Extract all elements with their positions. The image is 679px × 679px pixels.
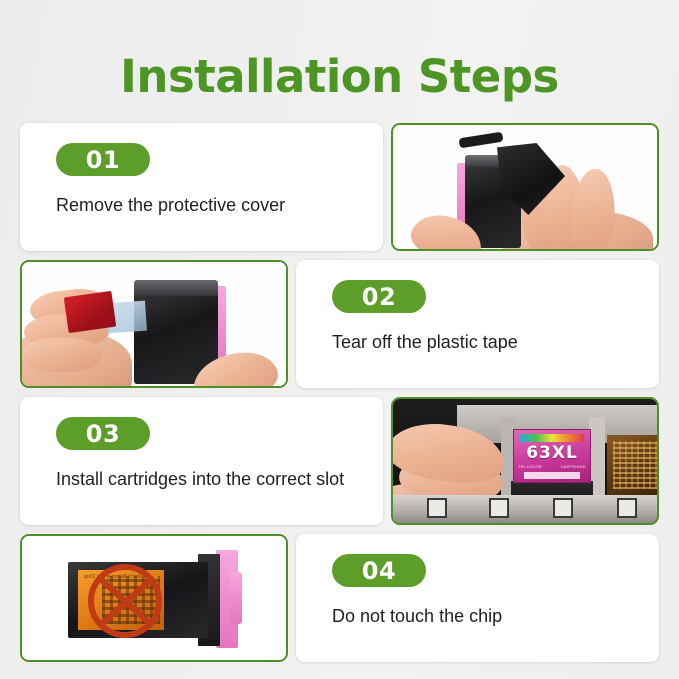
step-description-04: Do not touch the chip bbox=[332, 605, 632, 629]
cartridge-pink-tab bbox=[230, 572, 242, 624]
cartridge-sublabel-right: CARTRIDGE bbox=[561, 464, 586, 469]
finger bbox=[22, 338, 102, 372]
step-row-03: 03 Install cartridges into the correct s… bbox=[20, 397, 659, 525]
step-text-card-02: 02 Tear off the plastic tape bbox=[296, 260, 659, 388]
tri-color-stripe bbox=[520, 434, 584, 442]
step-text-card-04: 04 Do not touch the chip bbox=[296, 534, 659, 662]
step-badge-02: 02 bbox=[332, 280, 426, 313]
cartridge-sublabel: TRI-COLOR CARTRIDGE bbox=[518, 464, 586, 469]
cartridge-top bbox=[134, 280, 218, 296]
no-entry-icon bbox=[88, 564, 162, 638]
page-title: Installation Steps bbox=[0, 0, 679, 99]
photo-do-not-touch-chip: Don't Remove the Chip bbox=[20, 534, 288, 662]
photo-tear-plastic-tape bbox=[20, 260, 288, 388]
step-description-02: Tear off the plastic tape bbox=[332, 331, 632, 355]
printer-tray bbox=[393, 495, 657, 523]
step-badge-03: 03 bbox=[56, 417, 150, 450]
cartridge-label-footer bbox=[524, 472, 580, 479]
step-text-card-03: 03 Install cartridges into the correct s… bbox=[20, 397, 383, 525]
printer-chip-contacts bbox=[607, 435, 657, 495]
step-badge-01: 01 bbox=[56, 143, 150, 176]
step-description-03: Install cartridges into the correct slot bbox=[56, 468, 356, 492]
cartridge-label: 63XL bbox=[514, 443, 590, 463]
photo-install-cartridge-in-slot: 63XL TRI-COLOR CARTRIDGE bbox=[391, 397, 659, 525]
step-row-01: 01 Remove the protective cover bbox=[20, 123, 659, 251]
step-row-02: 02 Tear off the plastic tape bbox=[20, 260, 659, 388]
step-description-01: Remove the protective cover bbox=[56, 194, 356, 218]
cartridge-63xl: 63XL TRI-COLOR CARTRIDGE bbox=[513, 429, 591, 483]
steps-list: 01 Remove the protective cover bbox=[0, 123, 679, 662]
step-row-04: Don't Remove the Chip 04 Do not touch th… bbox=[20, 534, 659, 662]
cartridge-sublabel-left: TRI-COLOR bbox=[518, 464, 542, 469]
photo-remove-protective-cover bbox=[391, 123, 659, 251]
step-text-card-01: 01 Remove the protective cover bbox=[20, 123, 383, 251]
plastic-tape-red-pull-tab bbox=[64, 291, 117, 333]
step-badge-04: 04 bbox=[332, 554, 426, 587]
